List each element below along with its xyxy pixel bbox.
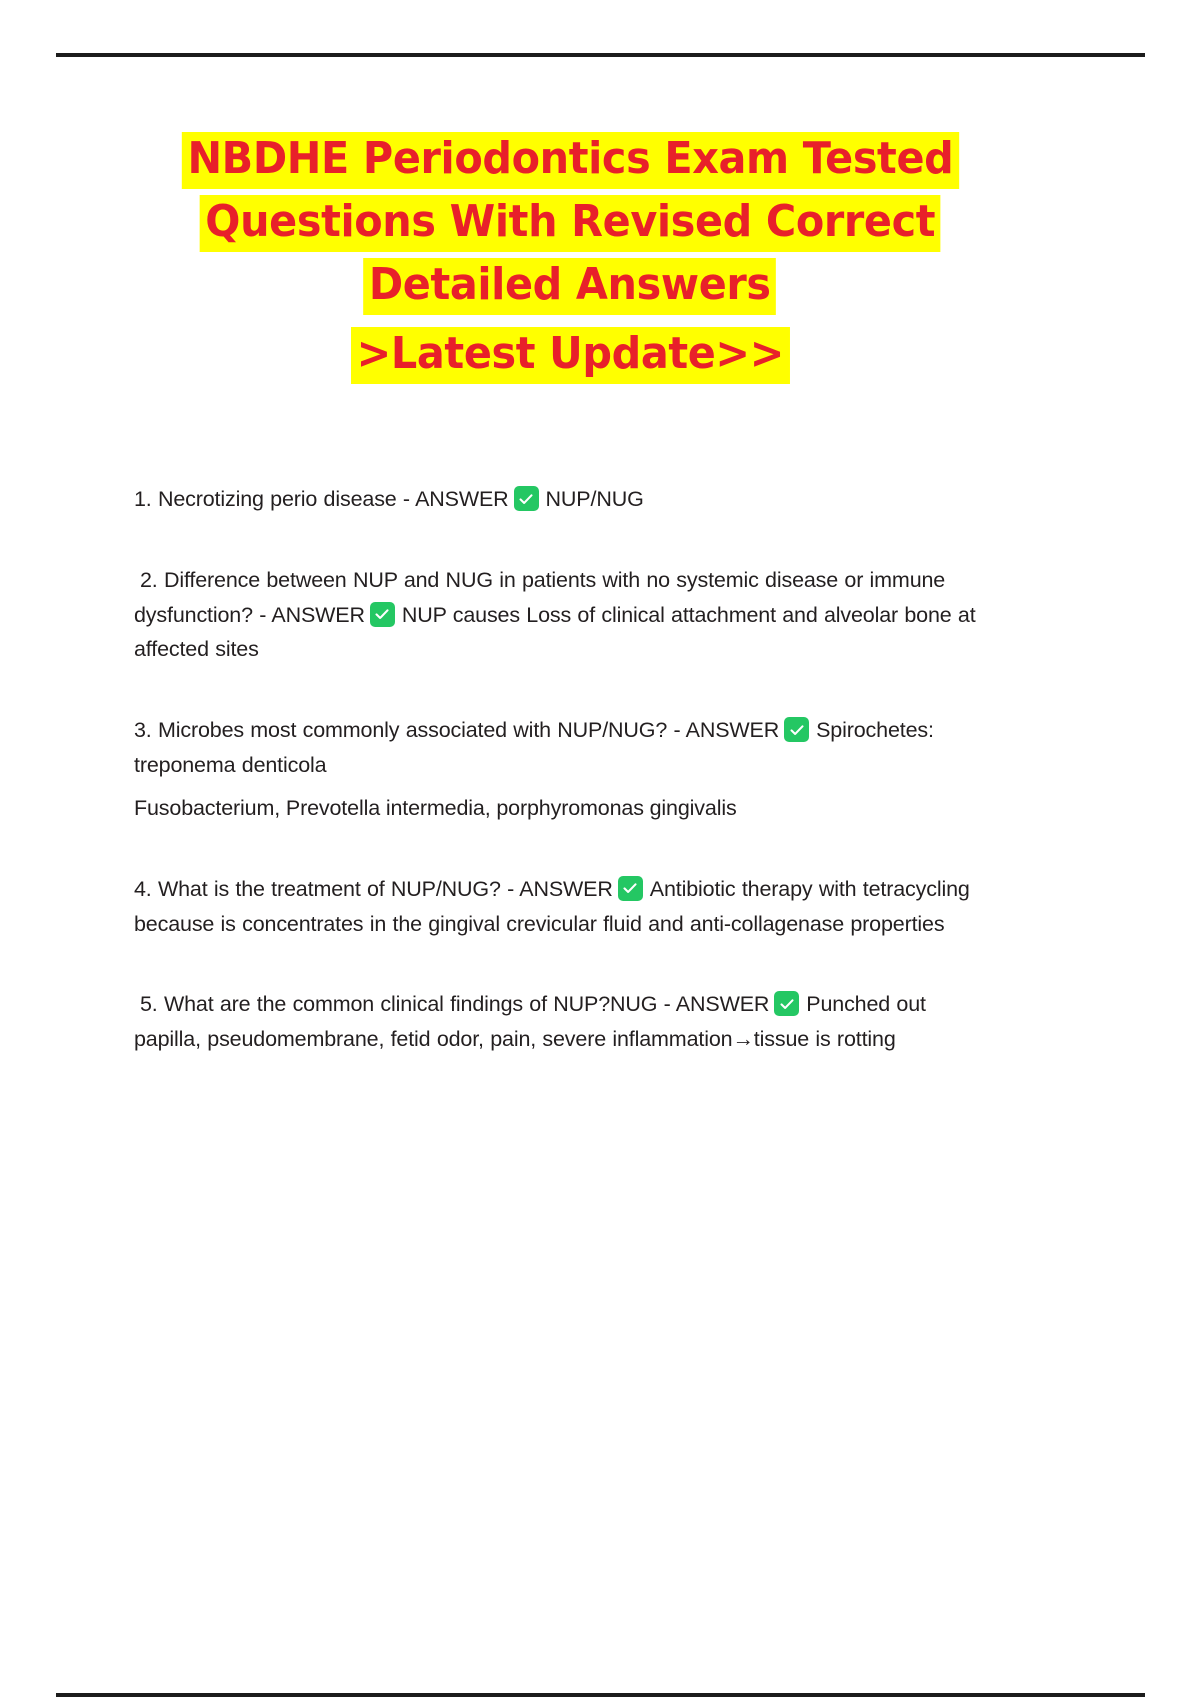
answer-text: NUP/NUG (546, 487, 644, 511)
qa-item-3: 3. Microbes most commonly associated wit… (134, 713, 996, 783)
title-line-4-text: >Latest Update>> (351, 327, 790, 384)
qa-item-2: 2. Difference between NUP and NUG in pat… (134, 563, 996, 667)
header-rule (56, 53, 1145, 57)
green-check-icon (514, 486, 539, 511)
footer-rule (56, 1693, 1145, 1697)
title-line-3: Detailed Answers (130, 258, 1010, 315)
question-text: 3. Microbes most commonly associated wit… (134, 718, 779, 742)
title-line-2: Questions With Revised Correct (130, 195, 1010, 252)
title-line-1: NBDHE Periodontics Exam Tested (130, 132, 1010, 189)
qa-item-3-extra: Fusobacterium, Prevotella intermedia, po… (134, 791, 996, 826)
green-check-icon (370, 602, 395, 627)
question-text: 5. What are the common clinical findings… (140, 992, 769, 1016)
title-line-4: >Latest Update>> (130, 327, 1010, 384)
qa-item-4: 4. What is the treatment of NUP/NUG? - A… (134, 872, 996, 942)
title-line-1-text: NBDHE Periodontics Exam Tested (181, 132, 958, 189)
qa-list: 1. Necrotizing perio disease - ANSWERNUP… (134, 482, 996, 1103)
question-text: 1. Necrotizing perio disease - ANSWER (134, 487, 509, 511)
green-check-icon (784, 717, 809, 742)
title-line-2-text: Questions With Revised Correct (199, 195, 940, 252)
green-check-icon (618, 876, 643, 901)
document-title: NBDHE Periodontics Exam Tested Questions… (130, 132, 1010, 390)
document-page: NBDHE Periodontics Exam Tested Questions… (0, 0, 1200, 1700)
qa-item-5: 5. What are the common clinical findings… (134, 987, 996, 1057)
title-line-3-text: Detailed Answers (363, 258, 776, 315)
green-check-icon (774, 991, 799, 1016)
qa-item-1: 1. Necrotizing perio disease - ANSWERNUP… (134, 482, 996, 517)
question-text: 4. What is the treatment of NUP/NUG? - A… (134, 877, 613, 901)
